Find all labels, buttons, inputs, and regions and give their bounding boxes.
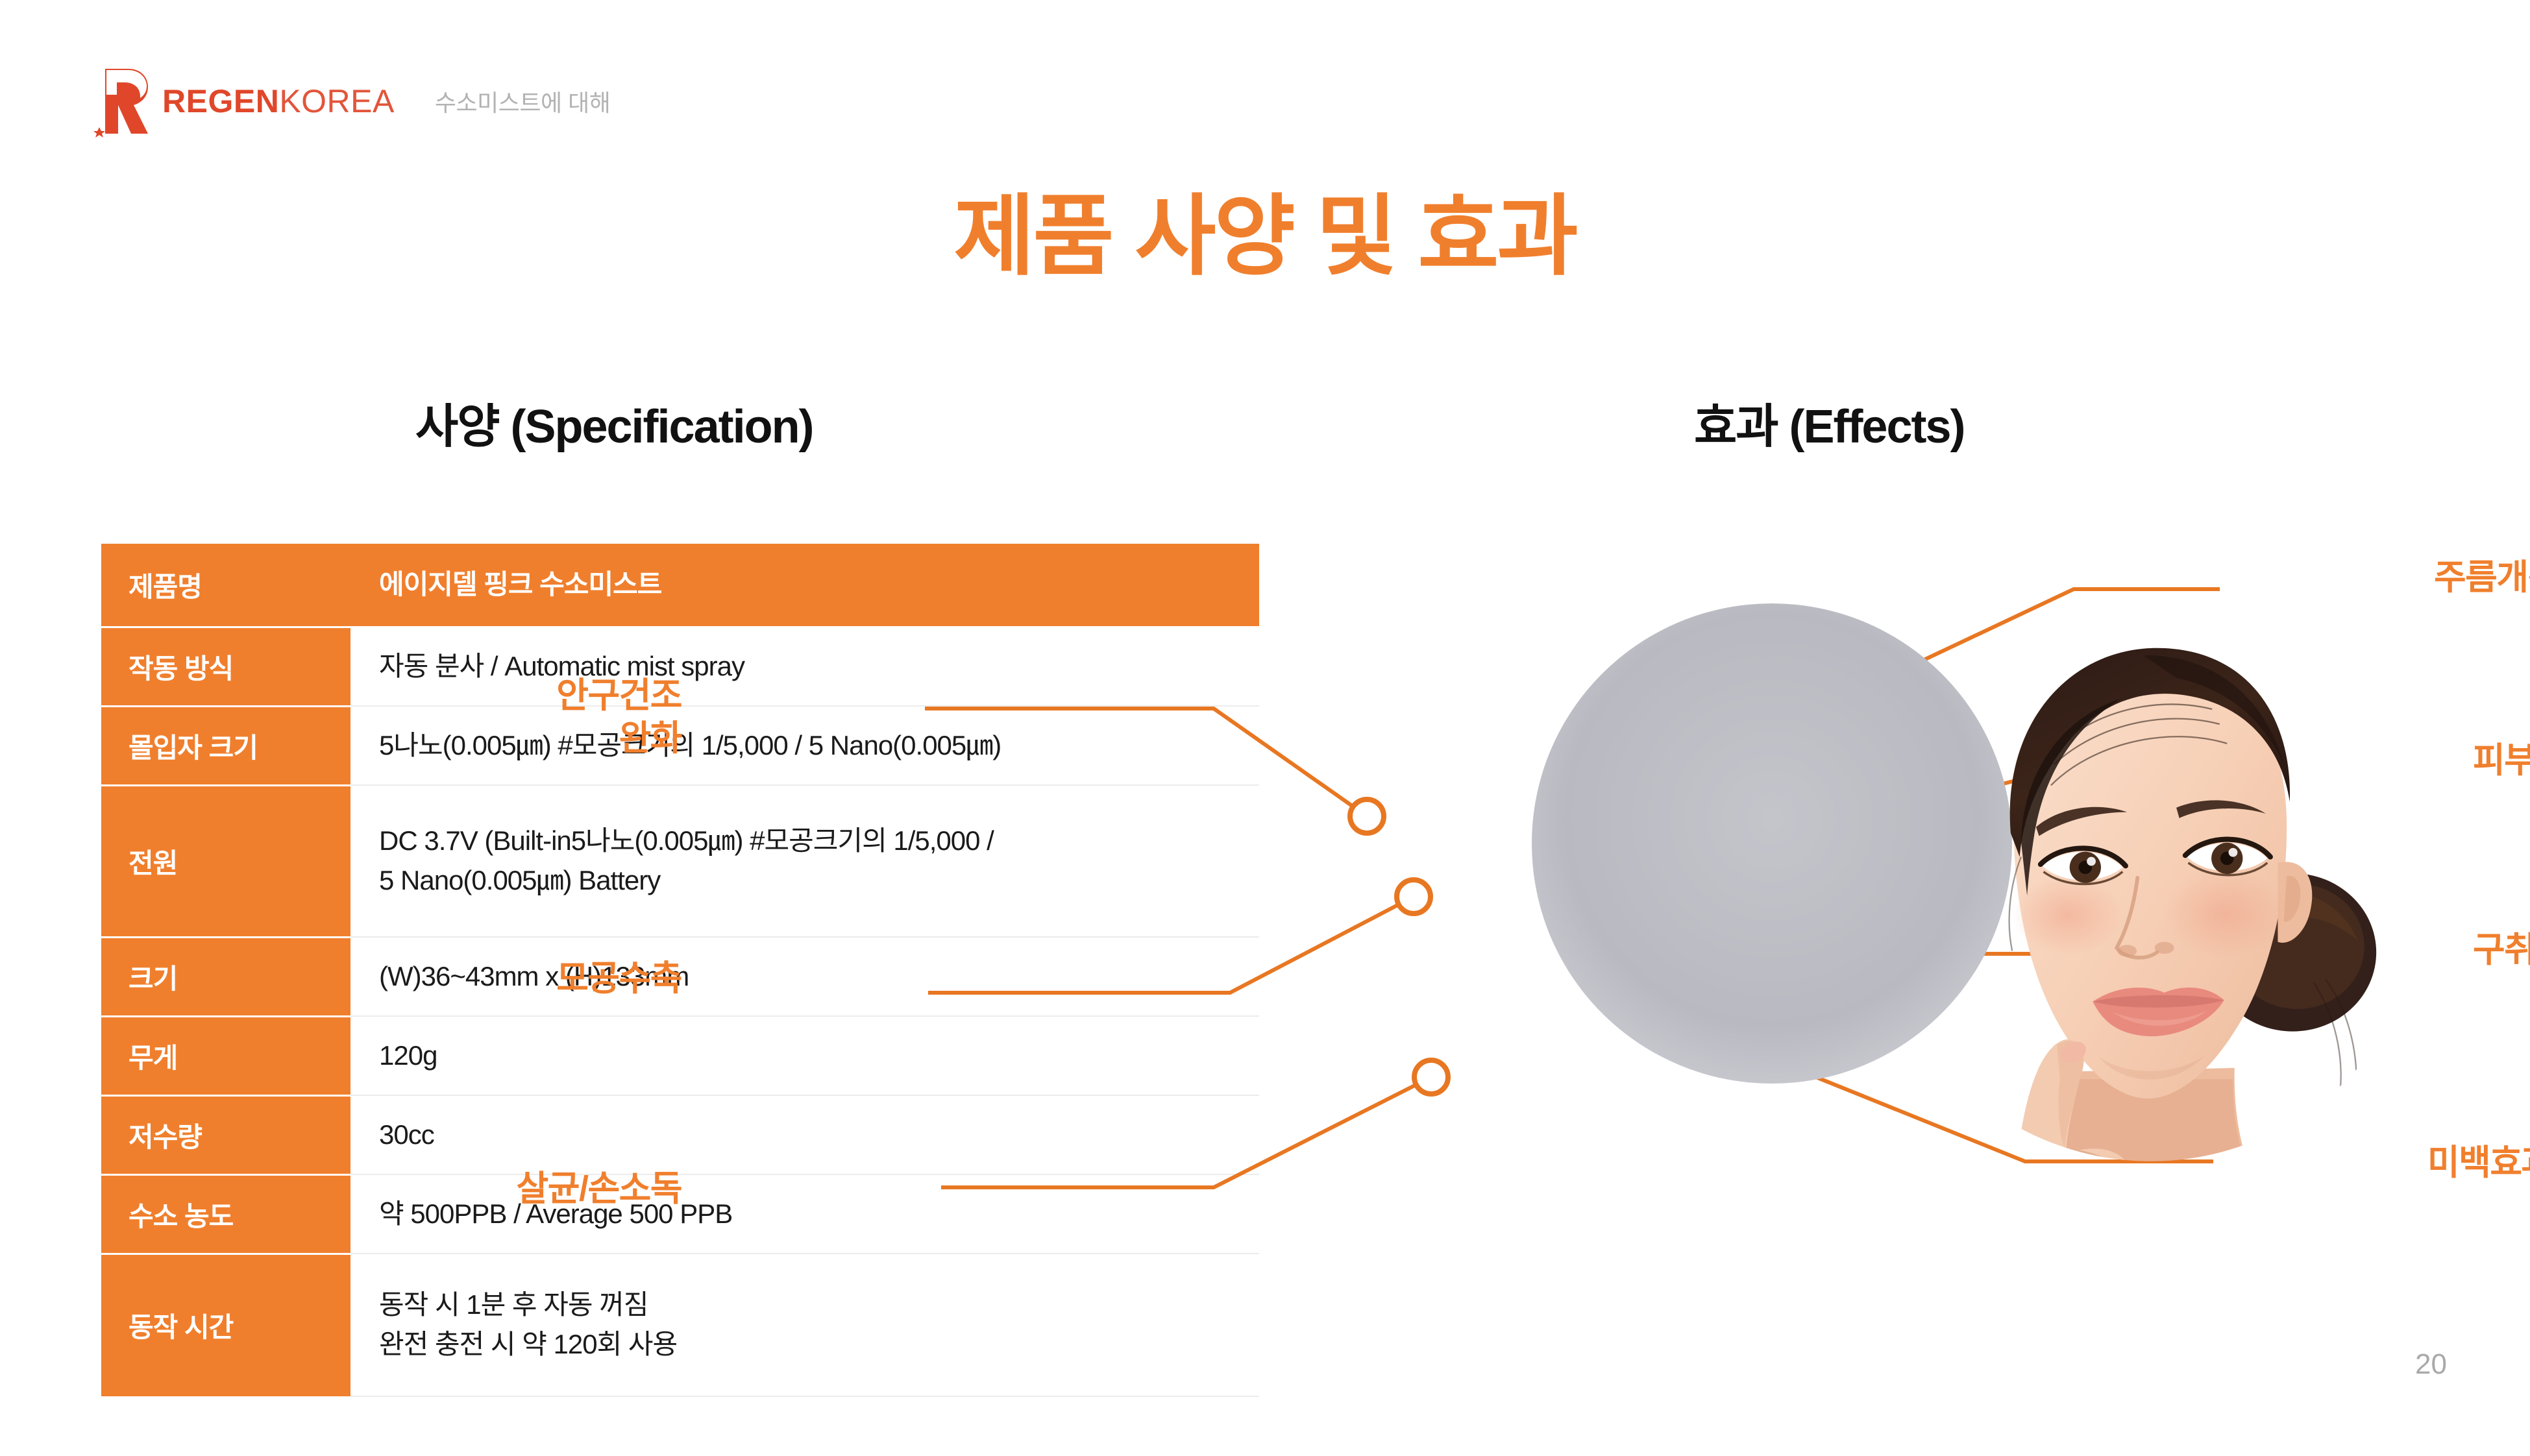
table-row: 무게 120g [101, 1016, 1259, 1095]
table-row: 전원 DC 3.7V (Built-in5나노(0.005㎛) #모공크기의 1… [101, 785, 1259, 937]
table-cell-key: 저수량 [101, 1095, 350, 1174]
table-cell-value: 에이지델 핑크 수소미스트 [350, 544, 1259, 627]
table-cell-value: 30cc [350, 1095, 1259, 1174]
effect-dot-pore [1397, 880, 1431, 914]
brand-logo: REGENKOREA [91, 65, 395, 138]
table-row: 동작 시간 동작 시 1분 후 자동 꺼짐 완전 충전 시 약 120회 사용 [101, 1254, 1259, 1396]
effect-label-moisture: 피부보습 [2473, 740, 2530, 783]
table-cell-value-line1: 동작 시 1분 후 자동 꺼짐 [379, 1285, 1241, 1325]
face-illustration [1532, 564, 2530, 1363]
slide-header: REGENKOREA 수소미스트에 대해 [91, 65, 610, 138]
model-face-image: 안구건조 완화 모공수축 살균/손소독 주름개선 피부보습 구취제거 미백효과 [1532, 564, 2012, 1259]
brand-name-light: KOREA [279, 83, 395, 119]
effect-label-dry-eye: 안구건조 완화 [318, 675, 682, 760]
table-cell-key: 몰입자 크기 [101, 706, 350, 785]
effect-dot-sterilize [1414, 1060, 1448, 1094]
effect-label-breath: 구취제거 [2473, 929, 2530, 972]
table-cell-key: 수소 농도 [101, 1174, 350, 1254]
table-cell-key: 제품명 [101, 544, 350, 627]
table-cell-key: 크기 [101, 937, 350, 1016]
page-title: 제품 사양 및 효과 [0, 192, 2530, 280]
header-subtitle: 수소미스트에 대해 [435, 84, 610, 118]
brand-name-bold: REGEN [162, 83, 279, 119]
table-cell-value: 동작 시 1분 후 자동 꺼짐 완전 충전 시 약 120회 사용 [350, 1254, 1259, 1396]
table-row: 저수량 30cc [101, 1095, 1259, 1174]
section-heading-effects: 효과 (Effects) [1694, 404, 1965, 450]
table-cell-value-line2: 완전 충전 시 약 120회 사용 [379, 1325, 1241, 1365]
effect-label-whitening: 미백효과 [2427, 1142, 2530, 1185]
table-cell-key: 동작 시간 [101, 1254, 350, 1396]
effect-label-pore: 모공수축 [318, 958, 682, 1001]
table-row: 제품명 에이지델 핑크 수소미스트 [101, 544, 1259, 627]
table-cell-key: 무게 [101, 1016, 350, 1095]
table-cell-value: DC 3.7V (Built-in5나노(0.005㎛) #모공크기의 1/5,… [350, 785, 1259, 937]
regen-r-logo-icon [91, 65, 151, 138]
effects-diagram: 안구건조 완화 모공수축 살균/손소독 주름개선 피부보습 구취제거 미백효과 [1292, 539, 2530, 1337]
table-cell-value-line1: DC 3.7V (Built-in5나노(0.005㎛) #모공크기의 1/5,… [379, 821, 1241, 861]
effect-dot-dry-eye [1350, 799, 1384, 833]
table-cell-value: 120g [350, 1016, 1259, 1095]
table-cell-value-line2: 5 Nano(0.005㎛) Battery [379, 861, 1241, 901]
effect-label-sterilize: 살균/손소독 [318, 1168, 682, 1211]
effect-label-wrinkle: 주름개선 [2434, 557, 2530, 600]
table-cell-key: 전원 [101, 785, 350, 937]
slide-root: REGENKOREA 수소미스트에 대해 제품 사양 및 효과 사양 (Spec… [0, 0, 2530, 1456]
page-number: 20 [2415, 1348, 2447, 1381]
brand-wordmark: REGENKOREA [162, 85, 395, 117]
section-heading-specification: 사양 (Specification) [415, 404, 813, 450]
table-cell-key: 작동 방식 [101, 627, 350, 706]
